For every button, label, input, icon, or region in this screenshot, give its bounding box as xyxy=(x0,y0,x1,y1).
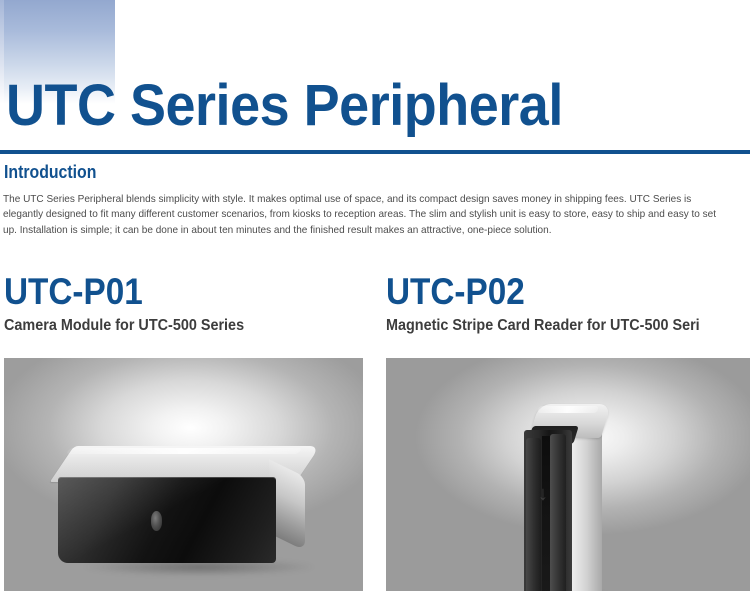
camera-top-highlight xyxy=(66,448,302,454)
product-item-utc-p01: UTC-P01 Camera Module for UTC-500 Series xyxy=(4,272,364,335)
product-code: UTC-P01 xyxy=(4,272,328,312)
camera-module-illustration xyxy=(54,446,334,566)
camera-lens-icon xyxy=(151,511,162,531)
introduction-paragraph: The UTC Series Peripheral blends simplic… xyxy=(3,192,717,238)
product-name: Camera Module for UTC-500 Series xyxy=(4,316,328,335)
product-item-utc-p02: UTC-P02 Magnetic Stripe Card Reader for … xyxy=(386,272,750,335)
page-title: UTC Series Peripheral xyxy=(6,77,563,135)
introduction-heading: Introduction xyxy=(4,162,96,183)
card-reader-illustration: ↓ xyxy=(514,398,634,591)
reader-cap-highlight xyxy=(537,406,599,413)
product-image-utc-p02: ↓ xyxy=(386,358,750,591)
title-divider-rule xyxy=(0,150,750,154)
product-code: UTC-P02 xyxy=(386,272,714,312)
camera-front-glass xyxy=(58,477,276,563)
product-name: Magnetic Stripe Card Reader for UTC-500 … xyxy=(386,316,714,335)
glass-reflection xyxy=(58,477,276,563)
swipe-direction-arrow-icon: ↓ xyxy=(538,484,554,518)
datasheet-page: UTC Series Peripheral Introduction The U… xyxy=(0,0,750,591)
product-image-utc-p01 xyxy=(4,358,363,591)
